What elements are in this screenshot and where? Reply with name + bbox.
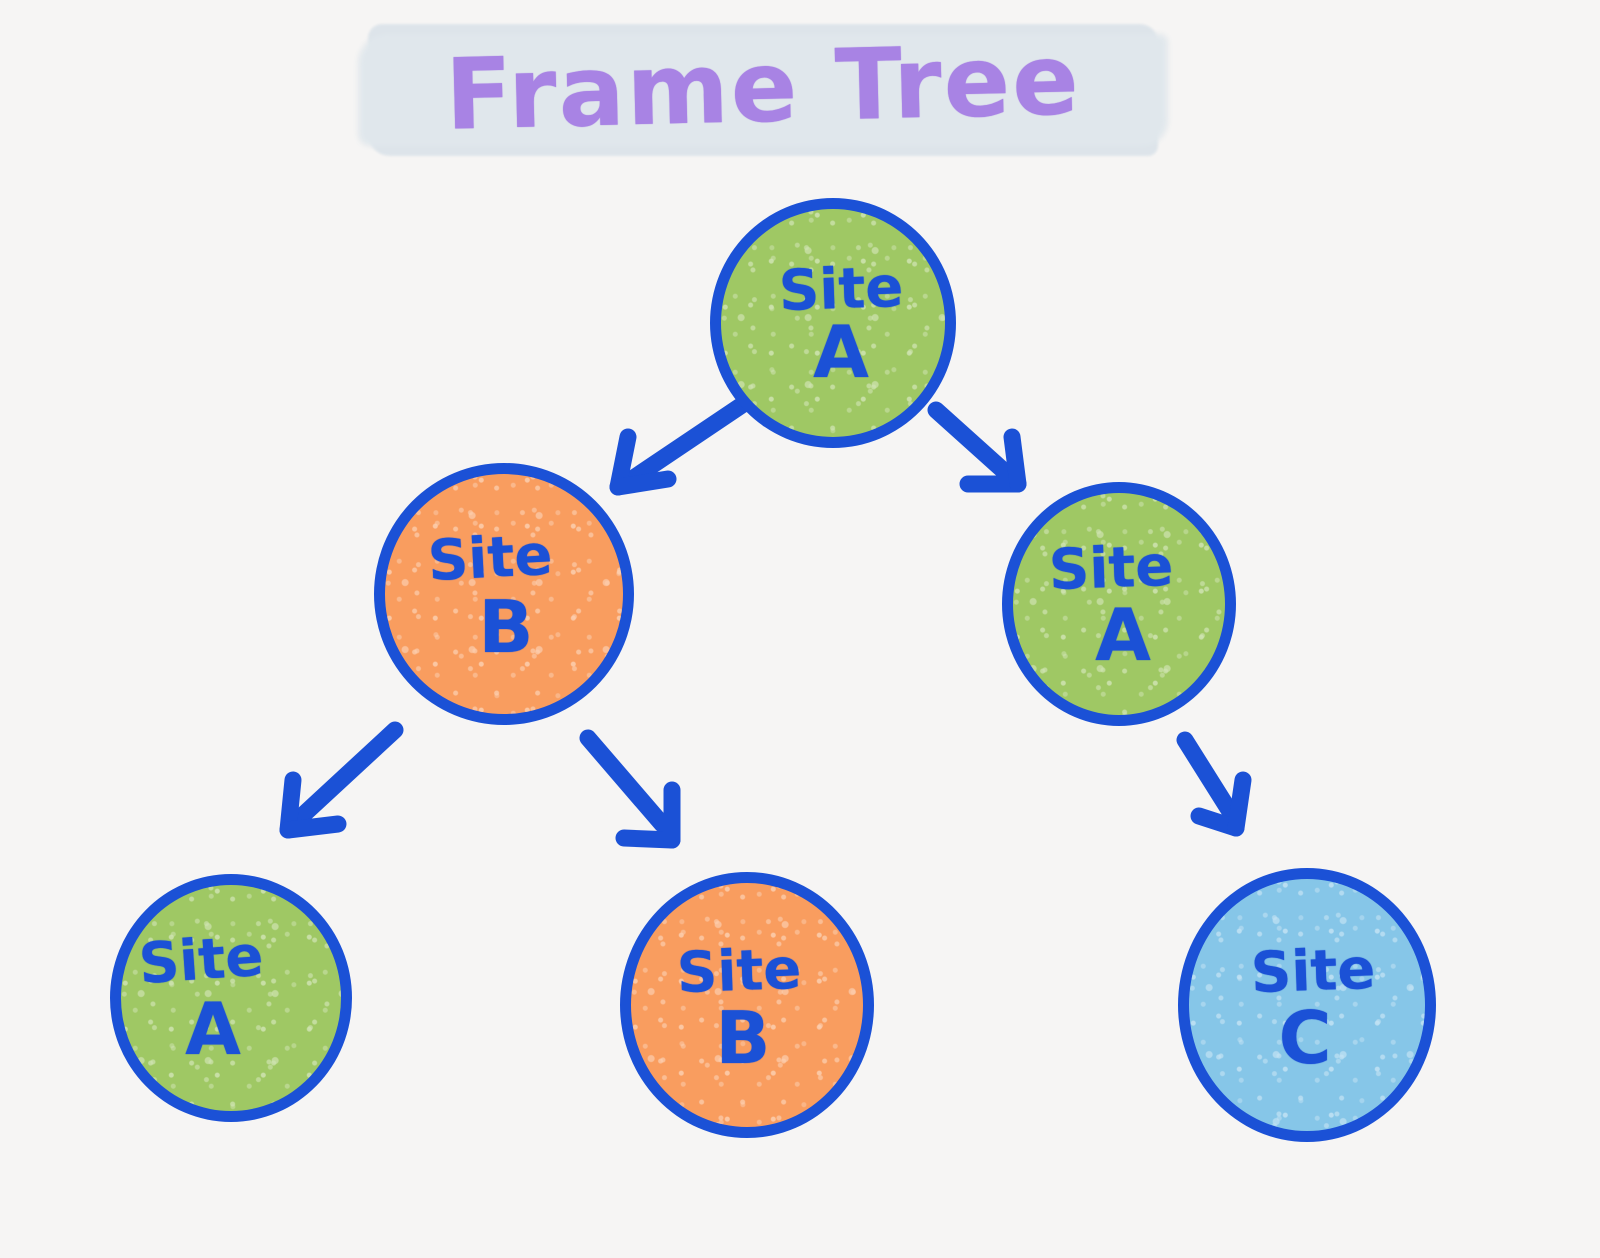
node-site-id: A: [1095, 601, 1151, 670]
edge-root-to-site-a-right: [936, 410, 1018, 484]
node-site-a-right[interactable]: Site A: [1002, 482, 1236, 726]
node-site-id: C: [1279, 1004, 1332, 1073]
node-site-c[interactable]: Site C: [1178, 868, 1436, 1142]
node-site-b-bottom[interactable]: Site B: [620, 872, 874, 1138]
edge-site-a-right-to-site-c: [1185, 740, 1243, 828]
page-title: Frame Tree: [368, 18, 1158, 158]
node-kind-label: Site: [676, 942, 802, 1000]
node-kind-label: Site: [1250, 942, 1376, 1000]
node-site-id: A: [813, 318, 869, 387]
edge-root-to-site-b: [618, 405, 742, 487]
node-kind-label: Site: [1048, 539, 1174, 597]
edge-site-b-to-site-b-bottom: [588, 738, 672, 840]
node-site-id: B: [479, 593, 534, 662]
node-kind-label: Site: [427, 528, 554, 588]
frame-tree-diagram: Frame Tree: [0, 0, 1600, 1258]
node-site-id: A: [185, 995, 241, 1064]
node-site-b[interactable]: Site B: [374, 463, 634, 725]
node-site-a-bottom[interactable]: Site A: [110, 874, 352, 1122]
node-site-id: B: [716, 1004, 771, 1073]
node-root-site-a[interactable]: Site A: [710, 198, 956, 448]
title-text: Frame Tree: [366, 8, 1159, 167]
node-kind-label: Site: [137, 929, 265, 991]
edge-site-b-to-site-a-bottom: [288, 730, 395, 830]
